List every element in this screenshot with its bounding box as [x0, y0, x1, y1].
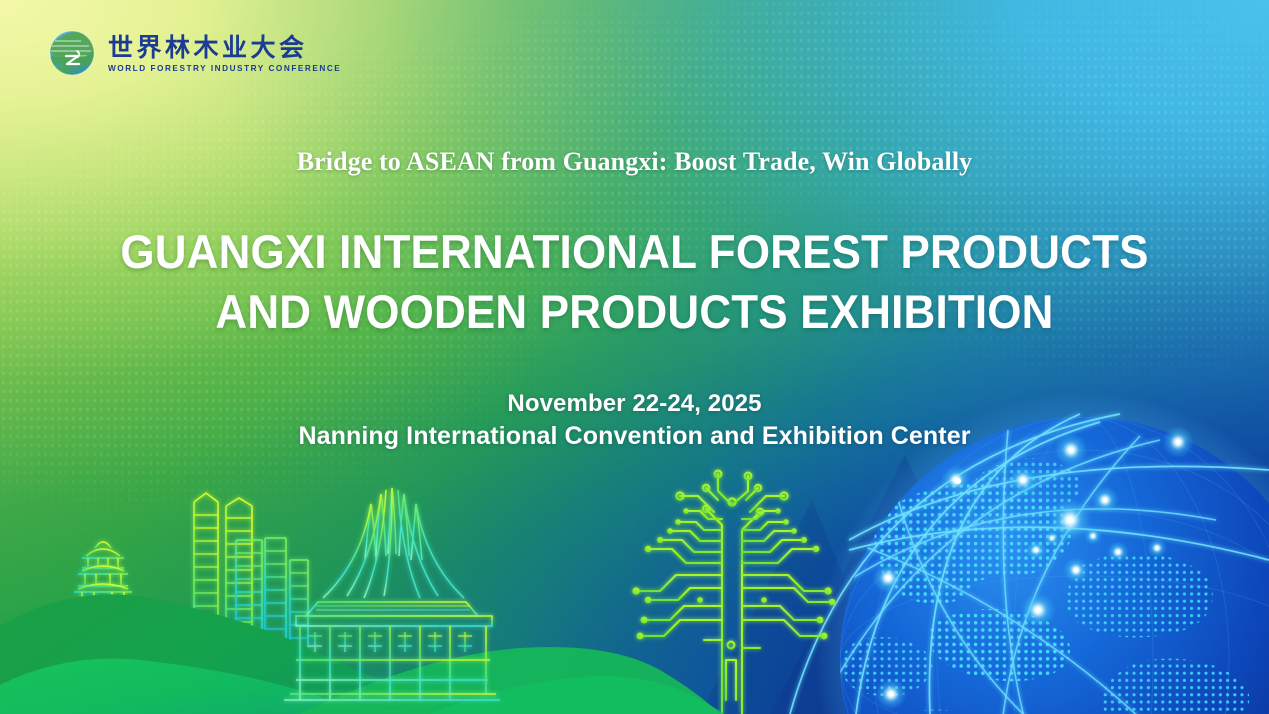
globe-logo-icon	[47, 28, 97, 78]
event-date: November 22-24, 2025	[0, 390, 1269, 418]
green-hills-shape	[0, 594, 724, 714]
hero-headline: GUANGXI INTERNATIONAL FOREST PRODUCTS AN…	[41, 222, 1228, 342]
poster-artwork	[0, 0, 1269, 714]
logo-chinese-name: 世界林木业大会	[108, 34, 341, 61]
hero-tagline: Bridge to ASEAN from Guangxi: Boost Trad…	[0, 147, 1269, 177]
conference-logo[interactable]: 世界林木业大会 WORLD FORESTRY INDUSTRY CONFEREN…	[47, 28, 341, 78]
headline-line-2: AND WOODEN PRODUCTS EXHIBITION	[41, 282, 1228, 342]
logo-english-name: WORLD FORESTRY INDUSTRY CONFERENCE	[108, 65, 341, 73]
poster-canvas: 世界林木业大会 WORLD FORESTRY INDUSTRY CONFEREN…	[0, 0, 1269, 714]
logo-text-block: 世界林木业大会 WORLD FORESTRY INDUSTRY CONFEREN…	[108, 32, 341, 73]
headline-line-1: GUANGXI INTERNATIONAL FOREST PRODUCTS	[41, 222, 1228, 282]
event-venue: Nanning International Convention and Exh…	[0, 422, 1269, 451]
